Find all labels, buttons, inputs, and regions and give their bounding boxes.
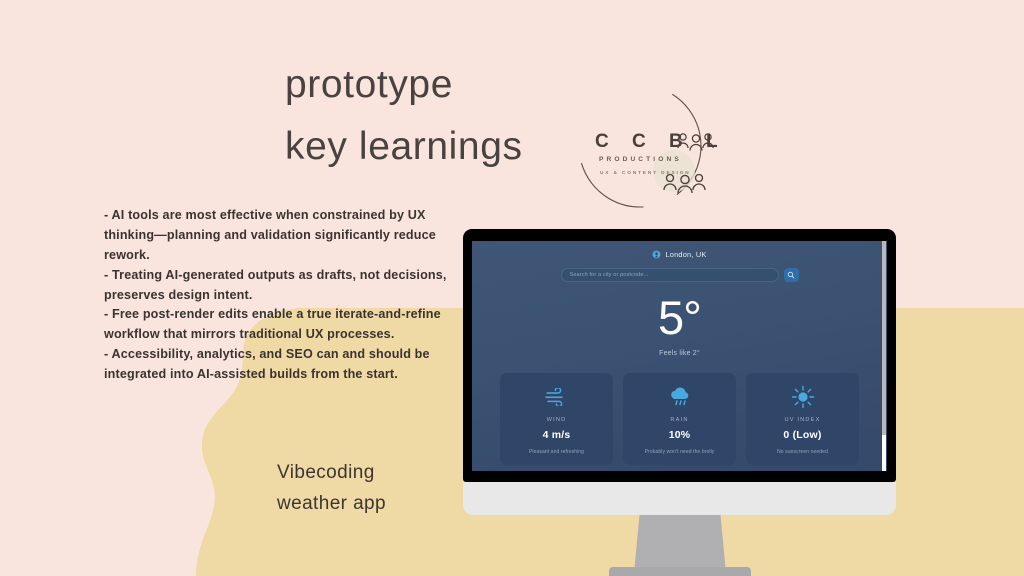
weather-app: London, UK Search for a city or postcode… <box>472 250 887 471</box>
location-pin-icon <box>652 250 661 259</box>
ccbl-logo: C C B L PRODUCTIONS UX & CONTENT DESIGN <box>578 83 738 213</box>
card-note: Pleasant and refreshing <box>529 449 584 455</box>
card-note: No sunscreen needed <box>777 449 828 455</box>
feels-like-label: Feels like 2° <box>488 350 871 357</box>
monitor-bezel: London, UK Search for a city or postcode… <box>463 229 896 482</box>
card-value: 0 (Low) <box>783 429 821 441</box>
bullet-item: - Accessibility, analytics, and SEO can … <box>104 345 454 385</box>
weather-card-rain[interactable]: RAIN 10% Probably won't need the brolly <box>623 373 736 465</box>
card-value: 4 m/s <box>543 429 571 441</box>
location-row: London, UK <box>488 250 871 259</box>
bullet-item: - AI tools are most effective when const… <box>104 206 454 266</box>
slide-caption: Vibecoding weather app <box>277 458 477 520</box>
card-label: RAIN <box>670 417 688 423</box>
card-label: WIND <box>547 417 567 423</box>
sun-icon <box>791 386 815 408</box>
wind-icon <box>544 386 570 408</box>
search-input[interactable]: Search for a city or postcode... <box>561 268 779 282</box>
logo-tagline: UX & CONTENT DESIGN <box>600 170 691 175</box>
key-learnings-list: - AI tools are most effective when const… <box>104 206 454 385</box>
monitor-screen: London, UK Search for a city or postcode… <box>472 241 887 471</box>
search-row: Search for a city or postcode... <box>488 268 871 282</box>
caption-line-2: weather app <box>277 489 477 520</box>
bullet-item: - Treating AI-generated outputs as draft… <box>104 266 454 306</box>
search-icon <box>787 271 795 279</box>
desktop-monitor-mockup: London, UK Search for a city or postcode… <box>463 229 896 576</box>
monitor-chin <box>463 482 896 515</box>
current-temperature: 5° <box>488 294 871 341</box>
card-label: UV INDEX <box>784 417 820 423</box>
monitor-stand-base <box>609 567 751 576</box>
caption-line-1: Vibecoding <box>277 458 477 489</box>
search-placeholder-text: Search for a city or postcode... <box>570 272 649 278</box>
card-note: Probably won't need the brolly <box>645 449 715 455</box>
rain-cloud-icon <box>668 386 692 408</box>
weather-card-uv-index[interactable]: UV INDEX 0 (Low) No sunscreen needed <box>746 373 859 465</box>
location-label: London, UK <box>665 250 706 259</box>
bullet-item: - Free post-render edits enable a true i… <box>104 305 454 345</box>
logo-wordmark: C C B L <box>595 131 727 153</box>
weather-cards: WIND 4 m/s Pleasant and refreshing <box>488 373 871 465</box>
scrollbar-thumb[interactable] <box>882 435 886 471</box>
weather-card-wind[interactable]: WIND 4 m/s Pleasant and refreshing <box>500 373 613 465</box>
monitor-stand-neck <box>634 515 726 573</box>
card-value: 10% <box>669 429 691 441</box>
search-button[interactable] <box>784 268 799 282</box>
presentation-slide: prototype key learnings - AI tools are m… <box>0 0 1024 576</box>
logo-subtitle: PRODUCTIONS <box>599 156 682 163</box>
